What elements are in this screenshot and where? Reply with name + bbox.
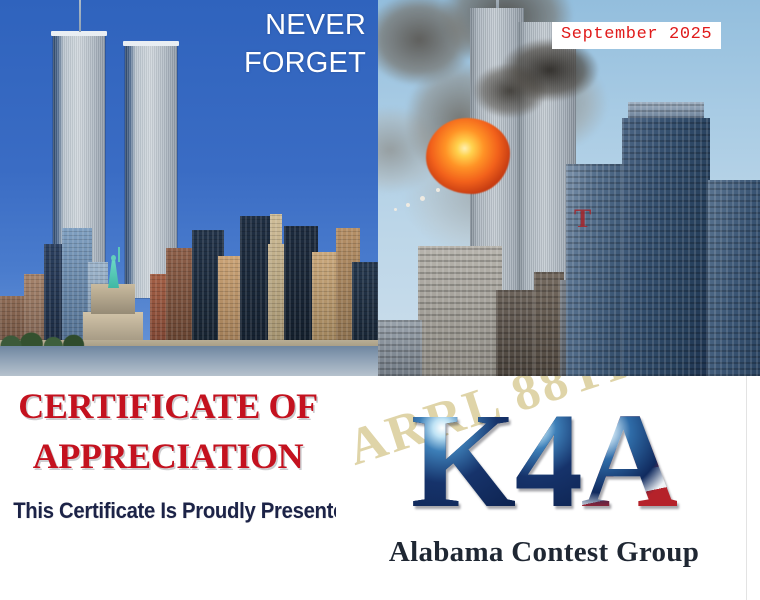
callsign-char-k: K [411, 386, 515, 536]
skyline-building [352, 262, 378, 348]
liberty-head [111, 255, 116, 261]
date-label: September 2025 [552, 22, 721, 49]
manhattan-skyline-graphic [0, 196, 378, 376]
blue-glass-tower-main [622, 118, 710, 376]
debris-particle [436, 188, 440, 192]
debris-particle [406, 203, 410, 207]
skyline-building [166, 248, 192, 348]
foreground-building [418, 246, 502, 376]
certificate-title-line-2: APPRECIATION [0, 438, 336, 474]
k4a-logo-block: ARRL 88TH K4A Alabama Contest Group [336, 376, 747, 600]
liberty-body [108, 258, 119, 288]
foreground-building [496, 290, 538, 376]
photo-twin-towers-attack: T September 2025 [378, 0, 760, 376]
callsign-char-a: A [581, 386, 677, 536]
certificate-page: NEVER FORGET T [0, 0, 760, 600]
explosion-fireball [426, 118, 510, 194]
callsign-char-4: 4 [515, 386, 581, 536]
never-forget-caption: NEVER FORGET [244, 6, 366, 83]
statue-of-liberty [100, 254, 126, 346]
liberty-torch [118, 247, 120, 262]
harbor-water [0, 346, 378, 376]
debris-particle [420, 196, 425, 201]
tower-crown [628, 102, 704, 118]
photo-band: NEVER FORGET T [0, 0, 760, 376]
club-name-caption: Alabama Contest Group [344, 536, 744, 569]
wtc-antenna [79, 0, 81, 32]
liberty-pedestal [91, 284, 135, 314]
certificate-band: CERTIFICATE OF APPRECIATION This Certifi… [0, 376, 760, 600]
certificate-text-block: CERTIFICATE OF APPRECIATION This Certifi… [0, 376, 336, 600]
wtc-tower-2-cap [123, 41, 179, 46]
k4a-callsign-logo: K4A [344, 390, 744, 532]
certificate-subtitle: This Certificate Is Proudly Presented To [13, 498, 317, 524]
debris-particle [394, 208, 397, 211]
foreground-building [708, 180, 760, 376]
photo-twin-towers-intact: NEVER FORGET [0, 0, 378, 376]
foreground-building [378, 320, 422, 376]
certificate-title-line-1: CERTIFICATE OF [0, 388, 336, 424]
t-logo-icon: T [574, 206, 602, 230]
blue-glass-tower [566, 164, 628, 376]
skyline-building-spire [270, 214, 282, 348]
